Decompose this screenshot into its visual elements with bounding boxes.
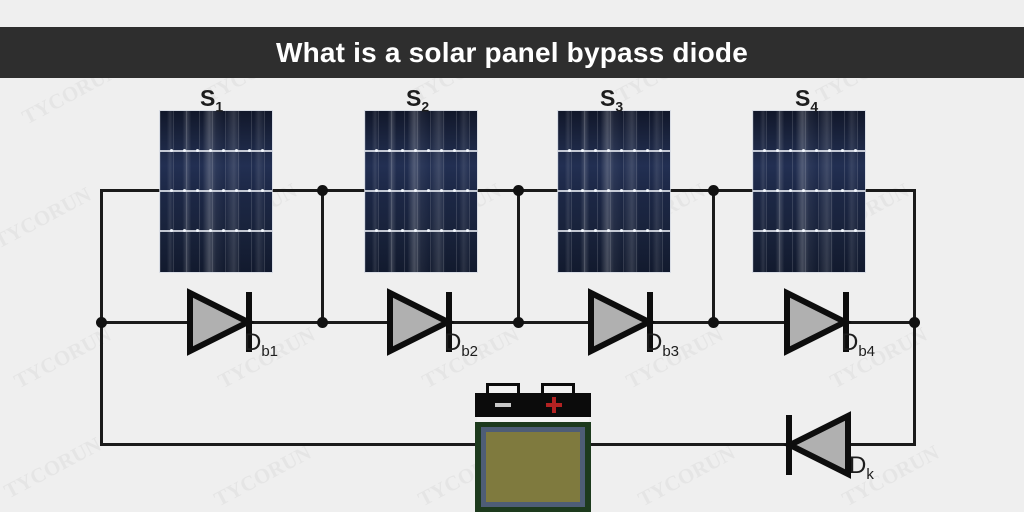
diode-label-db4: Db4 [841,329,875,360]
solar-panel-s2[interactable] [365,111,477,272]
watermark: TYCORUN [0,182,95,254]
battery-plus-icon [552,397,556,413]
wire-link-2 [517,189,520,324]
solar-panel-s4[interactable] [753,111,865,272]
diagram-canvas: TYCORUN TYCORUN TYCORUN TYCORUN TYCORUN … [0,0,1024,512]
watermark: TYCORUN [634,440,739,512]
diode-label-text: D [444,329,461,356]
junction-dot [317,185,328,196]
battery-top-cap [475,393,591,417]
junction-dot [513,185,524,196]
diode-label-db3: Db3 [645,329,679,360]
diode-label-sub: k [866,466,874,483]
blocking-diode-dk[interactable] [781,409,853,481]
diode-label-db1: Db1 [244,329,278,360]
junction-dot [909,317,920,328]
battery[interactable] [475,383,591,512]
panel-label-sub: 4 [810,99,818,115]
battery-body-inner [486,432,580,502]
diode-label-sub: b2 [461,343,478,360]
diode-label-text: D [841,329,858,356]
diode-label-sub: b4 [858,343,875,360]
diode-label-text: D [849,452,866,479]
panel-label-text: S [795,85,810,111]
page-title: What is a solar panel bypass diode [276,37,748,69]
junction-dot [708,317,719,328]
solar-panel-s1[interactable] [160,111,272,272]
panel-label-s2: S2 [406,85,429,115]
diode-label-db2: Db2 [444,329,478,360]
diode-label-sub: b3 [662,343,679,360]
battery-minus-icon [495,403,511,407]
panel-label-s4: S4 [795,85,818,115]
panel-busbar [160,190,272,192]
diode-label-text: D [645,329,662,356]
panel-label-text: S [600,85,615,111]
diode-label-dk: Dk [849,452,874,483]
diode-label-text: D [244,329,261,356]
title-bar: What is a solar panel bypass diode [0,27,1024,78]
panel-label-sub: 1 [215,99,223,115]
panel-label-sub: 3 [615,99,623,115]
panel-label-s1: S1 [200,85,223,115]
solar-panel-s3[interactable] [558,111,670,272]
junction-dot [708,185,719,196]
wire-link-3 [712,189,715,324]
watermark: TYCORUN [210,440,315,512]
panel-busbar [160,150,272,152]
junction-dot [317,317,328,328]
panel-busbar [160,230,272,232]
panel-label-text: S [406,85,421,111]
junction-dot [96,317,107,328]
diode-label-sub: b1 [261,343,278,360]
wire-link-1 [321,189,324,324]
junction-dot [513,317,524,328]
panel-label-sub: 2 [421,99,429,115]
panel-label-text: S [200,85,215,111]
panel-label-s3: S3 [600,85,623,115]
watermark: TYCORUN [0,432,105,504]
